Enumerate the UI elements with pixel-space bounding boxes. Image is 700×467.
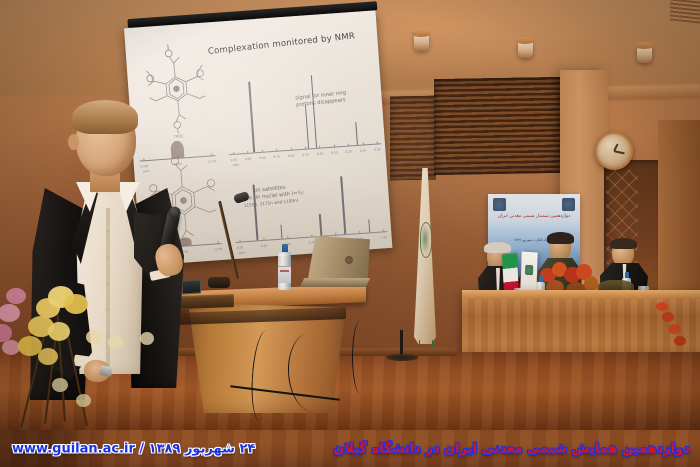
flower-blossom [76, 394, 91, 407]
banner-emblem-right-icon [562, 198, 575, 211]
bottle-label [278, 266, 291, 283]
axis-tick-label: 8.30 [331, 150, 338, 154]
axis-tick [262, 150, 263, 153]
flower-blossom [662, 312, 674, 322]
banner-emblem-left-icon [493, 198, 506, 211]
podium-water-bottle [278, 244, 291, 290]
axis-tick-label: 8.60 [288, 154, 295, 158]
axis-tick [348, 144, 349, 147]
photo-canvas: Complexation monitored by NMR [0, 0, 700, 467]
mic-arm [218, 201, 239, 280]
flower-blossom [656, 302, 668, 311]
furled-flag [414, 168, 440, 354]
banner-right-text: دوازدهمین همایش شیمی معدنی ایران در دانش… [333, 441, 690, 456]
axis-tick-label: 8.90 [245, 157, 252, 161]
panelist-hair [547, 232, 574, 244]
axis-tick [383, 229, 384, 232]
wall-louver-panel [434, 77, 560, 175]
axis-tick [233, 152, 234, 155]
flower-blossom [38, 348, 58, 365]
laptop-lid [308, 236, 370, 282]
axis-tick [319, 146, 320, 149]
axis-tick [362, 143, 363, 146]
banner-left-text: www.guilan.ac.ir / ۲۴ شهریور ۱۳۸۹ [12, 441, 255, 456]
presenter-laptop[interactable] [300, 236, 372, 294]
flower-blossom [140, 332, 154, 345]
spectrum-peak [368, 220, 370, 233]
laptop-logo-icon [345, 256, 353, 264]
spectrum-peak [248, 81, 254, 152]
flower-blossom [674, 336, 686, 346]
furled-flag-emblem-icon [418, 214, 432, 264]
nmr-spectrum-top-right: 9.008.908.808.708.608.508.408.308.208.10… [224, 63, 381, 156]
axis-tick [276, 149, 277, 152]
axis-tick [305, 147, 306, 150]
lectern-display-icon [182, 280, 201, 295]
banner-separator: / [139, 441, 144, 456]
panelist-hair [610, 238, 637, 249]
banner-date: ۲۴ شهریور ۱۳۸۹ [149, 441, 256, 456]
axis-tick [247, 151, 248, 154]
mic-base [208, 277, 230, 288]
axis-tick [291, 148, 292, 151]
axis-tick-label: 8.50 [302, 152, 309, 156]
axis-tick-label: 8.10 [360, 148, 367, 152]
mic-capsule-icon [233, 191, 250, 204]
backdrop-banner-title: دوازدهمین سمینار شیمی معدنی ایران [494, 214, 574, 219]
axis-tick [359, 231, 360, 234]
clock-minute-hand [614, 150, 625, 154]
spectrum-peak [280, 225, 282, 239]
axis-tick [377, 142, 378, 145]
axis-tick-label: 8.40 [317, 151, 324, 155]
flower-blossom [108, 336, 123, 349]
axis-tick-label: 8.80 [261, 244, 268, 248]
flower-blossom [48, 322, 70, 341]
ceiling-spotlight-icon [518, 41, 533, 58]
axis-tick-label: 7.80 [380, 235, 387, 239]
axis-tick-label: 8.80 [259, 156, 266, 160]
flower-stem [55, 300, 66, 422]
spectrum-peak [341, 177, 347, 235]
flower-blossom [668, 324, 681, 334]
gooseneck-microphone [214, 193, 254, 293]
flower-blossom [86, 330, 102, 344]
spectrum-peak [319, 214, 322, 236]
flower-stem [65, 328, 88, 426]
floor-mic-stand-base [386, 354, 418, 361]
flower-blossom [0, 304, 20, 322]
right-foreground-flowers [646, 296, 700, 366]
floor-cable [352, 320, 369, 394]
flower-blossom [52, 378, 68, 392]
axis-tick-label: 8.00 [374, 147, 381, 151]
spectrum-peak [305, 104, 310, 148]
axis-tick-label: 8.20 [345, 149, 352, 153]
laptop-base [300, 278, 370, 287]
spectrum-peak [355, 122, 358, 145]
axis-tick-label: 8.70 [273, 155, 280, 159]
spectrum-peak [310, 75, 317, 148]
axis-tick [287, 236, 288, 239]
furled-flag-cloth [414, 168, 436, 344]
axis-unit-label: ppm [233, 162, 240, 166]
axis-tick-label: 12.00 [207, 159, 216, 164]
axis-tick-label: 9.00 [230, 158, 237, 162]
banner-url: www.guilan.ac.ir [12, 441, 135, 456]
ceiling-spotlight-icon [414, 34, 429, 51]
foreground-flower-arrangement [0, 282, 180, 432]
presenter-ear [68, 134, 79, 150]
nmr-spectrum-bottom-right: 9.008.808.608.408.208.007.80ppm [231, 162, 388, 243]
presenter-hair [72, 100, 138, 134]
ceiling-spotlight-icon [637, 46, 652, 63]
axis-tick [263, 238, 264, 241]
flower-blossom [6, 288, 26, 304]
bottom-caption-banner: www.guilan.ac.ir / ۲۴ شهریور ۱۳۸۹ دوازده… [0, 430, 700, 467]
ceiling-vent-icon [670, 0, 700, 24]
lectern-equipment-box [180, 294, 234, 309]
wall-clock-icon [595, 132, 633, 170]
axis-tick [211, 153, 212, 156]
axis-tick [334, 145, 335, 148]
slide-title: Complexation monitored by NMR [207, 31, 355, 57]
flower-blossom [64, 294, 88, 314]
